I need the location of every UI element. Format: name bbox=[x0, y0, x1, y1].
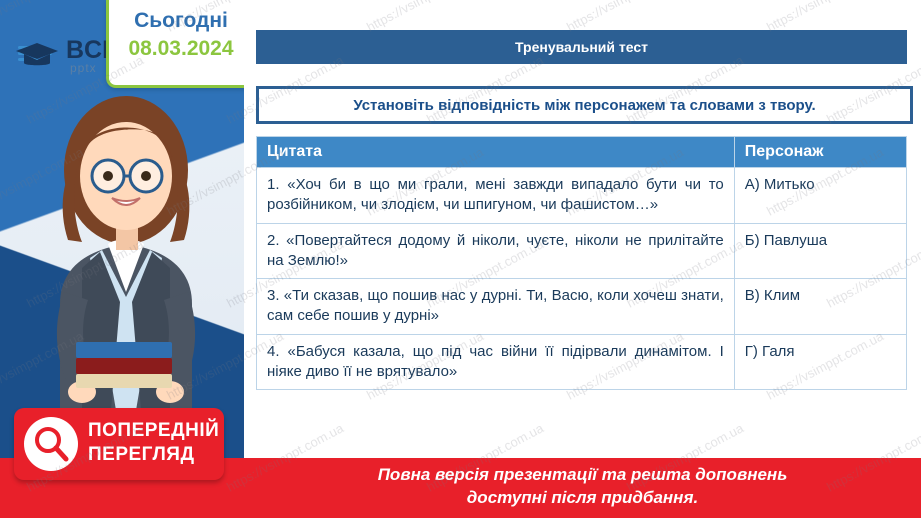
slide-title-bar: Тренувальний тест bbox=[256, 30, 907, 64]
banner-line2: доступні після придбання. bbox=[244, 488, 921, 508]
column-header-person: Персонаж bbox=[734, 137, 906, 168]
table-row: 4. «Бабуся казала, що під час війни її п… bbox=[257, 334, 907, 390]
table-row: 2. «Повертайтеся додому й ніколи, чуєте,… bbox=[257, 223, 907, 279]
quote-cell: 1. «Хоч би в що ми грали, мені завжди ви… bbox=[257, 168, 735, 224]
today-label: Сьогодні bbox=[109, 9, 244, 33]
teacher-character-illustration bbox=[22, 92, 237, 422]
slide-content: Тренувальний тест Установіть відповідніс… bbox=[244, 0, 921, 518]
matching-table: Цитата Персонаж 1. «Хоч би в що ми грали… bbox=[256, 136, 907, 390]
magnifier-badge bbox=[24, 417, 78, 471]
task-instruction-bar: Установіть відповідність між персонажем … bbox=[256, 86, 913, 124]
current-date: 08.03.2024 bbox=[109, 37, 244, 61]
quote-cell: 3. «Ти сказав, що пошив нас у дурні. Ти,… bbox=[257, 279, 735, 335]
person-cell: А) Митько bbox=[734, 168, 906, 224]
person-cell: Г) Галя bbox=[734, 334, 906, 390]
quote-cell: 2. «Повертайтеся додому й ніколи, чуєте,… bbox=[257, 223, 735, 279]
banner-line1: Повна версія презентації та решта доповн… bbox=[244, 465, 921, 485]
table-row: 1. «Хоч би в що ми грали, мені завжди ви… bbox=[257, 168, 907, 224]
table-row: 3. «Ти сказав, що пошив нас у дурні. Ти,… bbox=[257, 279, 907, 335]
person-cell: Б) Павлуша bbox=[734, 223, 906, 279]
task-instruction: Установіть відповідність між персонажем … bbox=[353, 97, 815, 114]
preview-button-line1: ПОПЕРЕДНІЙ bbox=[88, 420, 219, 442]
preview-button[interactable]: ПОПЕРЕДНІЙ ПЕРЕГЛЯД bbox=[14, 408, 224, 480]
quote-cell: 4. «Бабуся казала, що під час війни її п… bbox=[257, 334, 735, 390]
slide-title: Тренувальний тест bbox=[515, 39, 648, 55]
preview-button-line2: ПЕРЕГЛЯД bbox=[88, 444, 195, 466]
person-cell: В) Клим bbox=[734, 279, 906, 335]
column-header-quote: Цитата bbox=[257, 137, 735, 168]
logo-subtext: pptx bbox=[70, 61, 97, 75]
left-decorative-panel: BCIM pptx Сьогодні 08.03.2024 bbox=[0, 0, 244, 518]
graduation-cap-icon bbox=[14, 40, 60, 75]
date-badge: Сьогодні 08.03.2024 bbox=[106, 0, 244, 88]
table-header-row: Цитата Персонаж bbox=[257, 137, 907, 168]
